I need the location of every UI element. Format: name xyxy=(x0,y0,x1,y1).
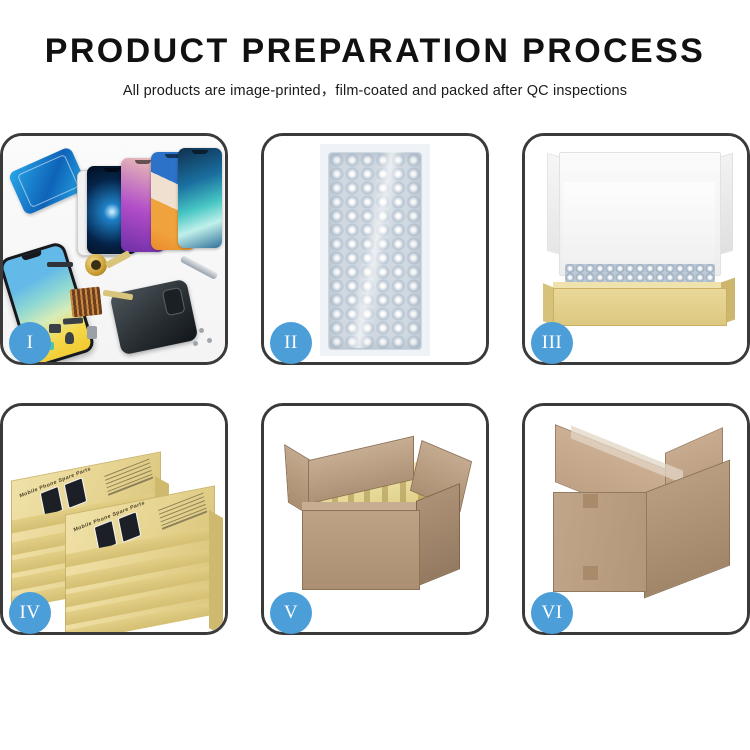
connector-grid-icon xyxy=(70,287,103,318)
process-steps-grid: I II III xyxy=(0,133,750,635)
page-header: PRODUCT PREPARATION PROCESS All products… xyxy=(0,0,750,100)
packing-tape-front-upper xyxy=(583,494,598,508)
step-panel-6[interactable]: VI xyxy=(522,403,750,635)
step-badge-3: III xyxy=(531,322,573,364)
infographic-page: PRODUCT PREPARATION PROCESS All products… xyxy=(0,0,750,750)
tweezers-icon xyxy=(180,255,219,280)
earpiece-mesh-icon xyxy=(47,262,73,267)
step-badge-2: II xyxy=(270,322,312,364)
phone-back-housing-icon xyxy=(109,279,198,356)
small-part-icon xyxy=(87,326,97,339)
step-badge-6: VI xyxy=(531,592,573,634)
carton-front-face xyxy=(302,510,420,590)
step-panel-1[interactable]: I xyxy=(0,133,228,365)
retail-box-spec-lines xyxy=(158,493,208,533)
packing-tape-front-lower xyxy=(583,566,598,580)
screw-icon xyxy=(199,328,204,333)
retail-box-spec-lines xyxy=(104,459,154,499)
plastic-glare-overlay xyxy=(329,152,421,348)
step-panel-3[interactable]: III xyxy=(522,133,750,365)
step-panel-2[interactable]: II xyxy=(261,133,489,365)
page-title: PRODUCT PREPARATION PROCESS xyxy=(0,34,750,68)
page-subtitle: All products are image-printed，film-coat… xyxy=(0,79,750,100)
speaker-coil-icon xyxy=(85,254,107,276)
phone-teal-screen-icon xyxy=(178,148,222,248)
step-badge-5: V xyxy=(270,592,312,634)
kraft-box-front xyxy=(553,288,727,326)
phone-fan-group xyxy=(77,148,222,258)
step-panel-5[interactable]: V xyxy=(261,403,489,635)
foam-sheet-icon xyxy=(563,182,715,266)
step-badge-1: I xyxy=(9,322,51,364)
screw-icon xyxy=(207,338,212,343)
sealed-carton-front-face xyxy=(553,492,647,592)
small-part-icon xyxy=(65,332,74,344)
screw-icon xyxy=(193,341,198,346)
step-panel-4[interactable]: Mobile Phone Spare Parts xyxy=(0,403,228,635)
small-part-icon xyxy=(49,324,61,333)
step-badge-4: IV xyxy=(9,592,51,634)
carton-side-face xyxy=(416,483,460,587)
